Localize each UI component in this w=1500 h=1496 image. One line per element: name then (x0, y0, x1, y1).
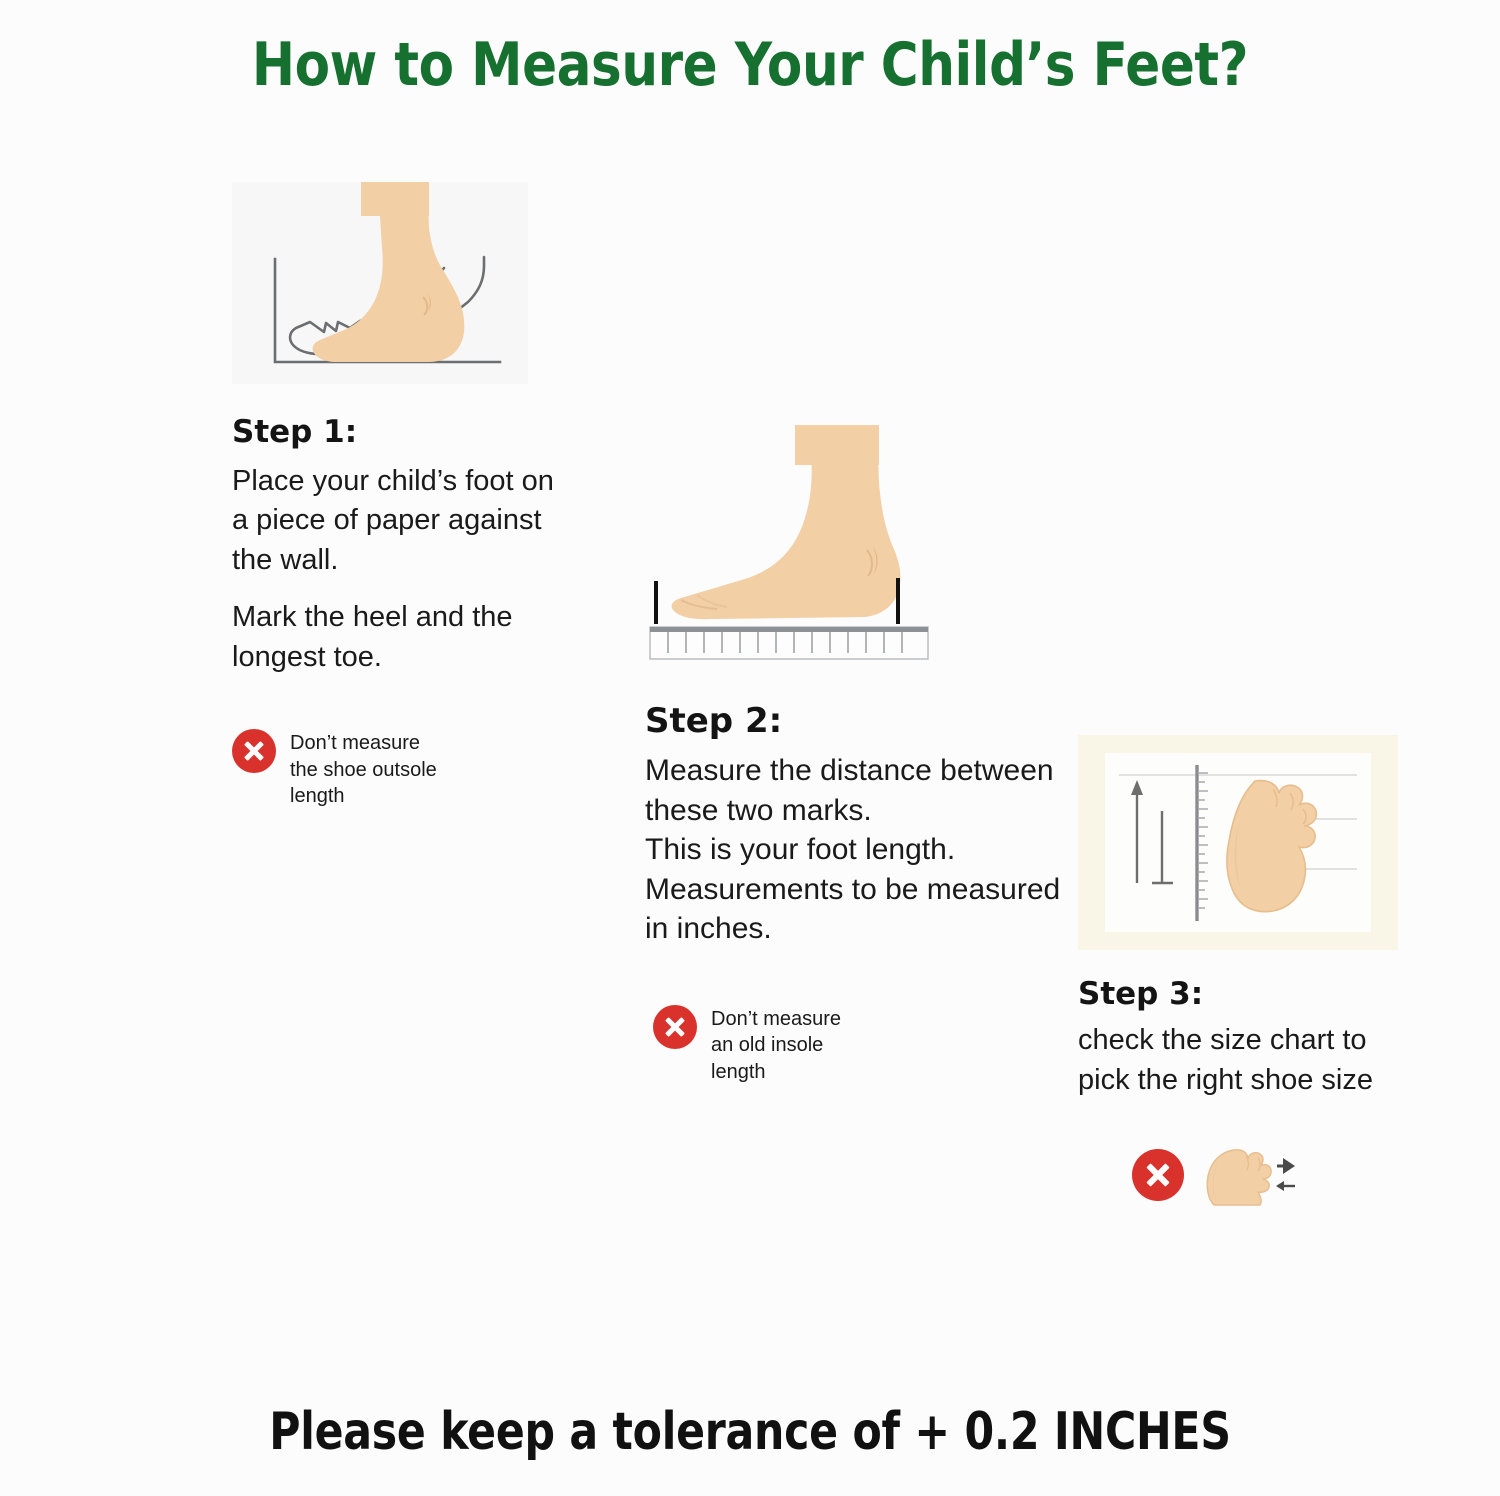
step-1-warning-text: Don’t measure the shoe outsole length (290, 729, 437, 809)
length-arrow-short (1152, 811, 1173, 883)
foot-profile-traced-against-wall-icon (232, 182, 528, 384)
arrow-left-icon (1276, 1181, 1295, 1191)
red-x-circle-icon (232, 729, 276, 773)
step-2-illustration-panel (645, 425, 935, 665)
page-title: How to Measure Your Child’s Feet? (105, 30, 1395, 100)
step-1-body: Place your child’s foot on a piece of pa… (232, 462, 562, 677)
step-3-heading: Step 3: (1078, 976, 1418, 1012)
tolerance-footer-note: Please keep a tolerance of + 0.2 INCHES (135, 1402, 1365, 1462)
step-2-body-line-3: Measurements to be measured in inches. (645, 870, 1085, 949)
step-1-warning-line-1: Don’t measure (290, 730, 437, 756)
arrow-right-icon (1277, 1158, 1295, 1174)
step-3-illustration-panel (1078, 735, 1398, 950)
step-2-warning: Don’t measure an old insole length (653, 1005, 1085, 1085)
foot-sole-shape (1227, 781, 1316, 912)
step-1-warning-line-3: length (290, 783, 437, 809)
step-2-heading: Step 2: (645, 701, 1085, 741)
step-3-chart-inner-panel (1105, 753, 1371, 932)
step-3-body-line-1: check the size chart to pick the right s… (1078, 1020, 1418, 1100)
red-x-circle-icon (1132, 1149, 1184, 1201)
length-arrow-long (1131, 780, 1143, 883)
red-x-circle-icon (653, 1005, 697, 1049)
step-2-body-line-1: Measure the distance between these two m… (645, 751, 1085, 830)
step-1-warning-line-2: the shoe outsole (290, 757, 437, 783)
infographic-root: How to Measure Your Child’s Feet? Step 1… (0, 0, 1500, 1496)
ruler (650, 627, 928, 659)
step-1-block: Step 1: Place your child’s foot on a pie… (232, 182, 562, 809)
step-2-warning-line-1: Don’t measure (711, 1006, 841, 1032)
vertical-ruler-ticks (1199, 773, 1208, 908)
step-2-warning-line-2: an old insole (711, 1032, 841, 1058)
step-1-warning: Don’t measure the shoe outsole length (232, 729, 562, 809)
step-3-block: Step 3: check the size chart to pick the… (1078, 735, 1418, 1206)
foot-with-arrows-icon (1198, 1144, 1296, 1206)
step-1-body-line-1: Place your child’s foot on a piece of pa… (232, 462, 562, 580)
step-2-warning-text: Don’t measure an old insole length (711, 1005, 841, 1085)
step-2-body-line-2: This is your foot length. (645, 830, 1085, 870)
foot-profile-on-ruler-icon (645, 425, 935, 665)
step-1-heading: Step 1: (232, 414, 562, 450)
step-2-warning-line-3: length (711, 1059, 841, 1085)
foot-sole-beside-vertical-ruler-icon (1105, 753, 1371, 932)
step-1-body-line-2: Mark the heel and the longest toe. (232, 598, 562, 677)
step-3-body: check the size chart to pick the right s… (1078, 1020, 1418, 1100)
step-2-block: Step 2: Measure the distance between the… (645, 425, 1085, 1085)
step-1-illustration-panel (232, 182, 528, 384)
step-2-body: Measure the distance between these two m… (645, 751, 1085, 949)
step-3-warning (1132, 1144, 1418, 1206)
